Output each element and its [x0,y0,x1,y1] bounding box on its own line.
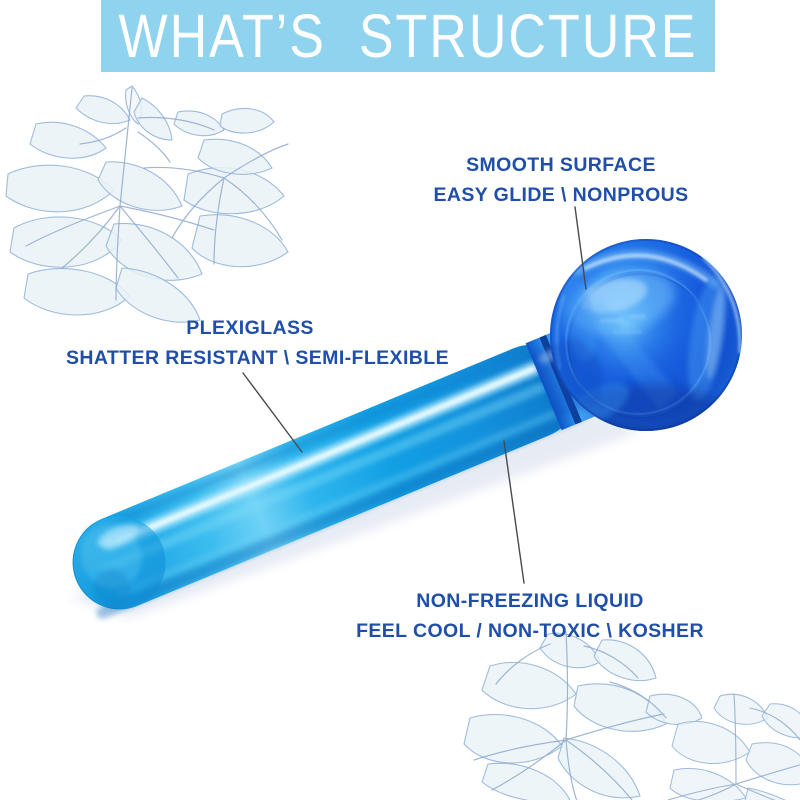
title-banner: WHAT’S STRUCTURE [101,0,715,72]
callout-plexiglass-line1: PLEXIGLASS [66,313,434,343]
leader-line-non-freezing [504,441,524,583]
callout-plexiglass: PLEXIGLASS SHATTER RESISTANT \ SEMI-FLEX… [66,313,434,373]
flower-icon-bottom-right [452,630,702,800]
callout-plexiglass-line2: SHATTER RESISTANT \ SEMI-FLEXIBLE [66,343,434,373]
callout-non-freezing-liquid-line1: NON-FREEZING LIQUID [355,586,705,616]
callout-smooth-surface: SMOOTH SURFACE EASY GLIDE \ NONPROUS [432,150,690,210]
leader-line-plexiglass [243,373,302,452]
callout-non-freezing-liquid: NON-FREEZING LIQUID FEEL COOL / NON-TOXI… [355,586,705,646]
callout-smooth-surface-line1: SMOOTH SURFACE [432,150,690,180]
callout-smooth-surface-line2: EASY GLIDE \ NONPROUS [432,180,690,210]
flower-icon-top-left [0,78,292,328]
leader-line-icon-group [0,0,800,800]
leader-line-smooth-surface [575,207,586,289]
product-wand-icon [0,0,800,800]
flower-icon-bottom-far-right [668,690,800,800]
callout-non-freezing-liquid-line2: FEEL COOL / NON-TOXIC \ KOSHER [355,616,705,646]
infographic-canvas: WHAT’S STRUCTURE SMOOTH SURFACE EASY GLI… [0,0,800,800]
page-title: WHAT’S STRUCTURE [118,7,697,68]
